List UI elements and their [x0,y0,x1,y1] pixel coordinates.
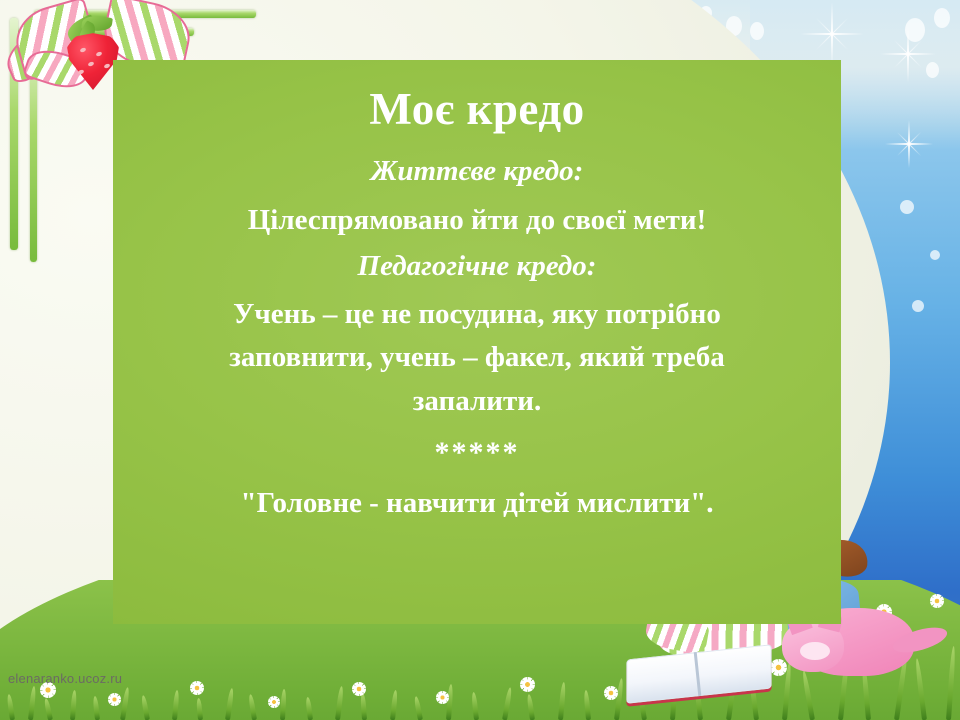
closing-quote: "Головне - навчити дітей мислити". [147,485,807,523]
bokeh-circle [750,22,764,40]
slide-canvas: Моє кредо Життєве кредо: Цілеспрямовано … [0,0,960,720]
section-line-life-credo-1: Цілеспрямовано йти до своєї мети! [147,198,807,243]
bokeh-circle [900,200,914,214]
bokeh-circle [926,62,939,78]
bokeh-circle [912,300,924,312]
section-line-pedagogical-1: Учень – це не посудина, яку потрібно [147,293,807,337]
content-panel: Моє кредо Життєве кредо: Цілеспрямовано … [113,60,841,624]
section-line-pedagogical-3: запалити. [147,380,807,424]
bokeh-circle [930,250,940,260]
daisy-flower-icon [604,686,618,700]
daisy-flower-icon [108,693,121,706]
daisy-flower-icon [520,677,535,692]
section-line-pedagogical-2: заповнити, учень – факел, який треба [147,336,807,380]
page-title: Моє кредо [147,86,807,133]
asterisk-divider: ***** [147,435,807,471]
daisy-flower-icon [190,681,204,695]
bokeh-circle [905,18,925,42]
daisy-flower-icon [352,682,366,696]
watermark-text: elenaranko.ucoz.ru [8,671,122,686]
daisy-flower-icon [436,691,449,704]
section-heading-pedagogical-credo: Педагогічне кредо: [147,248,807,284]
section-heading-life-credo: Життєве кредо: [147,153,807,189]
daisy-flower-icon [268,696,280,708]
bokeh-circle [934,8,950,28]
cat-muzzle [800,642,830,660]
